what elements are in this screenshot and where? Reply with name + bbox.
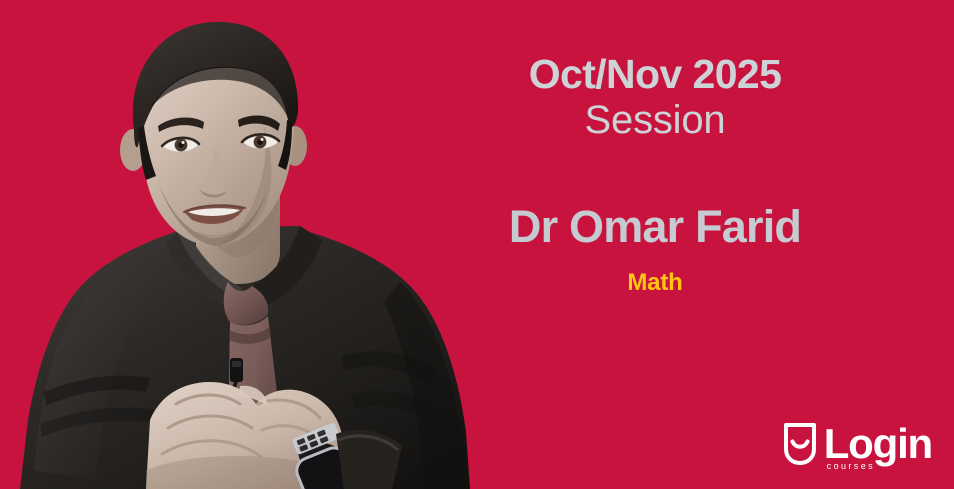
shield-chevron-icon xyxy=(783,423,817,465)
banner-text-column: Oct/Nov 2025 Session Dr Omar Farid Math xyxy=(455,0,855,489)
login-courses-logo[interactable]: Login courses xyxy=(783,421,932,467)
instructor-portrait xyxy=(0,0,500,489)
session-heading: Oct/Nov 2025 Session xyxy=(455,52,855,145)
session-date-text: Oct/Nov 2025 xyxy=(455,52,855,96)
logo-tagline-text: courses xyxy=(827,461,875,471)
instructor-name-text: Dr Omar Farid xyxy=(455,202,855,252)
instructor-portrait-image xyxy=(0,0,500,489)
instructor-block: Dr Omar Farid Math xyxy=(455,202,855,296)
logo-wordmark-group: Login courses xyxy=(824,421,932,467)
session-announcement-banner: Oct/Nov 2025 Session Dr Omar Farid Math … xyxy=(0,0,954,489)
instructor-subject-text: Math xyxy=(455,270,855,296)
session-label-text: Session xyxy=(455,96,855,145)
